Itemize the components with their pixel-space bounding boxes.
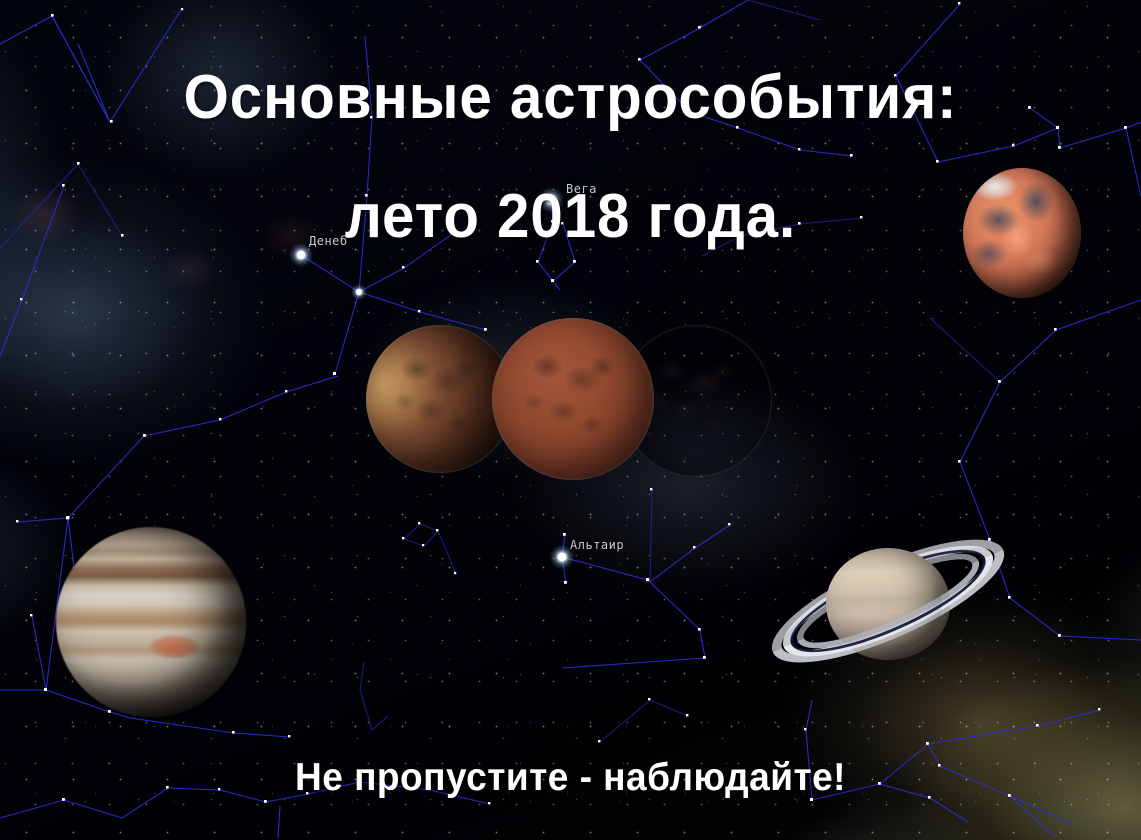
jupiter-planet [56,527,246,717]
constellation-delphinus [404,524,456,574]
title-line-1: Основные астрособытия: [34,68,1107,128]
title-line-2: лето 2018 года. [34,187,1107,247]
saturn-planet [762,508,1014,694]
page-title: Основные астрособытия: лето 2018 года. [34,8,1107,306]
eclipse-moon-total [492,318,654,480]
constellation-scutum [600,490,688,742]
jupiter-limb-shadow [56,527,246,717]
call-to-action-text: Не пропустите - наблюдайте! [29,756,1113,800]
lunar-limb [492,318,654,480]
star-label-altair: Альтаир [570,538,624,552]
constellation-sagitta [360,662,388,730]
astro-poster: Вега Денеб Альтаир Основные астрособытия… [0,0,1141,840]
